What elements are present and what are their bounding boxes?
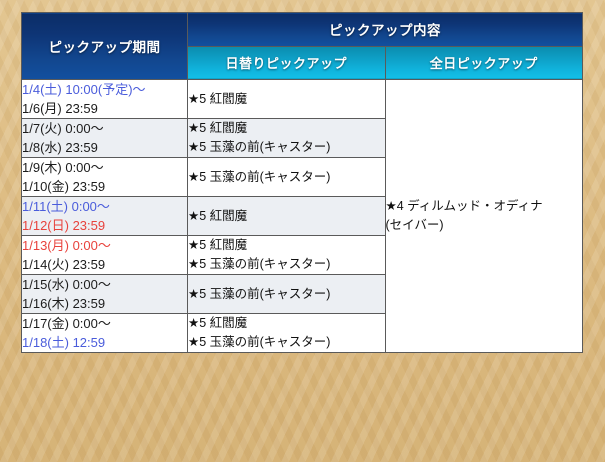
table-header: ピックアップ期間 ピックアップ内容 日替りピックアップ 全日ピックアップ (22, 13, 583, 80)
period-start: 1/17(金) 0:00〜 (22, 314, 187, 333)
table-body: 1/4(土) 10:00(予定)〜 1/6(月) 23:59 ★5 紅閻魔 ★4… (22, 80, 583, 353)
period-cell: 1/13(月) 0:00〜 1/14(火) 23:59 (22, 236, 188, 275)
daily-pickup-cell: ★5 紅閻魔 (188, 80, 386, 119)
period-cell: 1/17(金) 0:00〜 1/18(土) 12:59 (22, 314, 188, 353)
period-end: 1/18(土) 12:59 (22, 333, 187, 352)
period-cell: 1/9(木) 0:00〜 1/10(金) 23:59 (22, 158, 188, 197)
period-end: 1/16(木) 23:59 (22, 294, 187, 313)
period-start: 1/4(土) 10:00(予定)〜 (22, 80, 187, 99)
period-end: 1/6(月) 23:59 (22, 99, 187, 118)
servant-entry: ★5 玉藻の前(キャスター) (188, 138, 385, 157)
servant-entry: ★5 紅閻魔 (188, 314, 385, 333)
daily-pickup-cell: ★5 紅閻魔 ★5 玉藻の前(キャスター) (188, 236, 386, 275)
servant-entry: ★5 紅閻魔 (188, 207, 385, 226)
servant-entry: ★5 紅閻魔 (188, 90, 385, 109)
period-start: 1/15(水) 0:00〜 (22, 275, 187, 294)
header-pickup-content: ピックアップ内容 (188, 13, 583, 47)
period-start: 1/9(木) 0:00〜 (22, 158, 187, 177)
servant-entry: ★5 玉藻の前(キャスター) (188, 333, 385, 352)
header-daily-pickup: 日替りピックアップ (188, 46, 386, 80)
servant-entry: ★5 玉藻の前(キャスター) (188, 168, 385, 187)
period-end: 1/12(日) 23:59 (22, 216, 187, 235)
daily-pickup-cell: ★5 紅閻魔 ★5 玉藻の前(キャスター) (188, 119, 386, 158)
daily-pickup-cell: ★5 玉藻の前(キャスター) (188, 158, 386, 197)
table-row: 1/4(土) 10:00(予定)〜 1/6(月) 23:59 ★5 紅閻魔 ★4… (22, 80, 583, 119)
period-end: 1/8(水) 23:59 (22, 138, 187, 157)
header-pickup-period: ピックアップ期間 (22, 13, 188, 80)
period-end: 1/14(火) 23:59 (22, 255, 187, 274)
daily-pickup-cell: ★5 紅閻魔 (188, 197, 386, 236)
servant-entry-class: (セイバー) (386, 216, 583, 235)
daily-pickup-cell: ★5 紅閻魔 ★5 玉藻の前(キャスター) (188, 314, 386, 353)
period-cell: 1/11(土) 0:00〜 1/12(日) 23:59 (22, 197, 188, 236)
period-end: 1/10(金) 23:59 (22, 177, 187, 196)
allday-pickup-cell: ★4 ディルムッド・オディナ (セイバー) (385, 80, 583, 353)
period-start: 1/7(火) 0:00〜 (22, 119, 187, 138)
servant-entry: ★4 ディルムッド・オディナ (386, 197, 583, 216)
servant-entry: ★5 玉藻の前(キャスター) (188, 285, 385, 304)
period-cell: 1/15(水) 0:00〜 1/16(木) 23:59 (22, 275, 188, 314)
daily-pickup-cell: ★5 玉藻の前(キャスター) (188, 275, 386, 314)
period-start: 1/13(月) 0:00〜 (22, 236, 187, 255)
pickup-schedule-table: ピックアップ期間 ピックアップ内容 日替りピックアップ 全日ピックアップ 1/4… (21, 12, 583, 353)
header-row-top: ピックアップ期間 ピックアップ内容 (22, 13, 583, 47)
header-allday-pickup: 全日ピックアップ (385, 46, 583, 80)
servant-entry: ★5 玉藻の前(キャスター) (188, 255, 385, 274)
period-cell: 1/7(火) 0:00〜 1/8(水) 23:59 (22, 119, 188, 158)
page-root: ピックアップ期間 ピックアップ内容 日替りピックアップ 全日ピックアップ 1/4… (0, 0, 605, 462)
period-cell: 1/4(土) 10:00(予定)〜 1/6(月) 23:59 (22, 80, 188, 119)
servant-entry: ★5 紅閻魔 (188, 236, 385, 255)
period-start: 1/11(土) 0:00〜 (22, 197, 187, 216)
servant-entry: ★5 紅閻魔 (188, 119, 385, 138)
pickup-table-container: ピックアップ期間 ピックアップ内容 日替りピックアップ 全日ピックアップ 1/4… (21, 12, 583, 455)
